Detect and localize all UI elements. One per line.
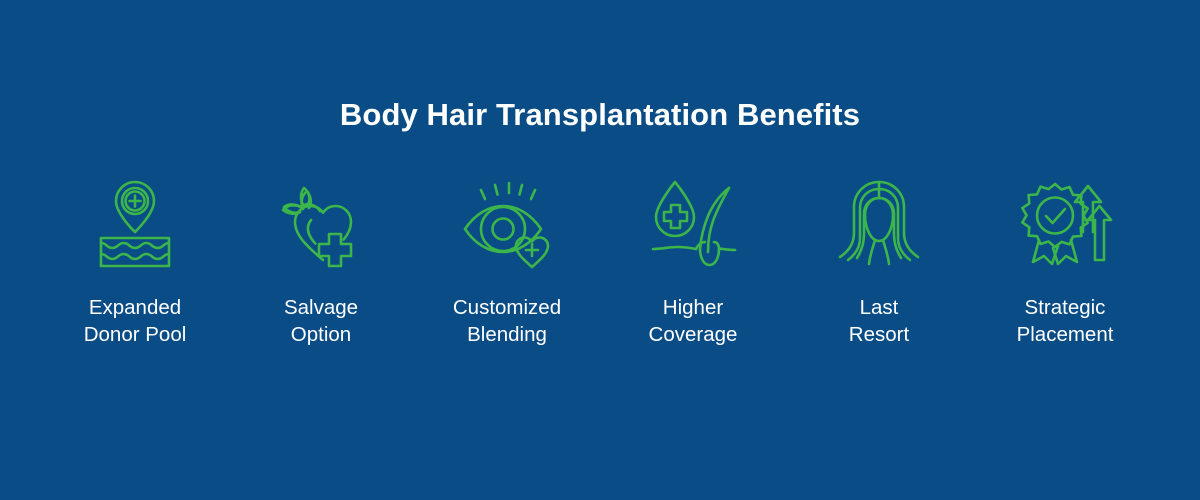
benefit-item: Customized Blending (422, 176, 592, 348)
eye-heart-cross-icon (459, 176, 555, 272)
heart-leaf-cross-icon (273, 176, 369, 272)
location-pin-water-icon (87, 176, 183, 272)
benefit-item: Strategic Placement (980, 176, 1150, 348)
infographic-root: Body Hair Transplantation Benefits Expan… (0, 0, 1200, 500)
benefit-item: Expanded Donor Pool (50, 176, 220, 348)
benefit-label: Strategic Placement (1017, 294, 1114, 348)
benefit-label: Salvage Option (284, 294, 358, 348)
benefit-item: Salvage Option (236, 176, 406, 348)
benefit-label: Expanded Donor Pool (84, 294, 187, 348)
benefit-item: Higher Coverage (608, 176, 778, 348)
benefits-row: Expanded Donor Pool Salvage Option (50, 176, 1150, 348)
benefit-item: Last Resort (794, 176, 964, 348)
benefit-label: Last Resort (849, 294, 909, 348)
badge-check-arrows-icon (1017, 176, 1113, 272)
benefit-label: Higher Coverage (649, 294, 738, 348)
long-hair-head-icon (831, 176, 927, 272)
benefit-label: Customized Blending (453, 294, 561, 348)
droplet-cross-follicle-icon (645, 176, 741, 272)
page-title: Body Hair Transplantation Benefits (340, 98, 860, 132)
